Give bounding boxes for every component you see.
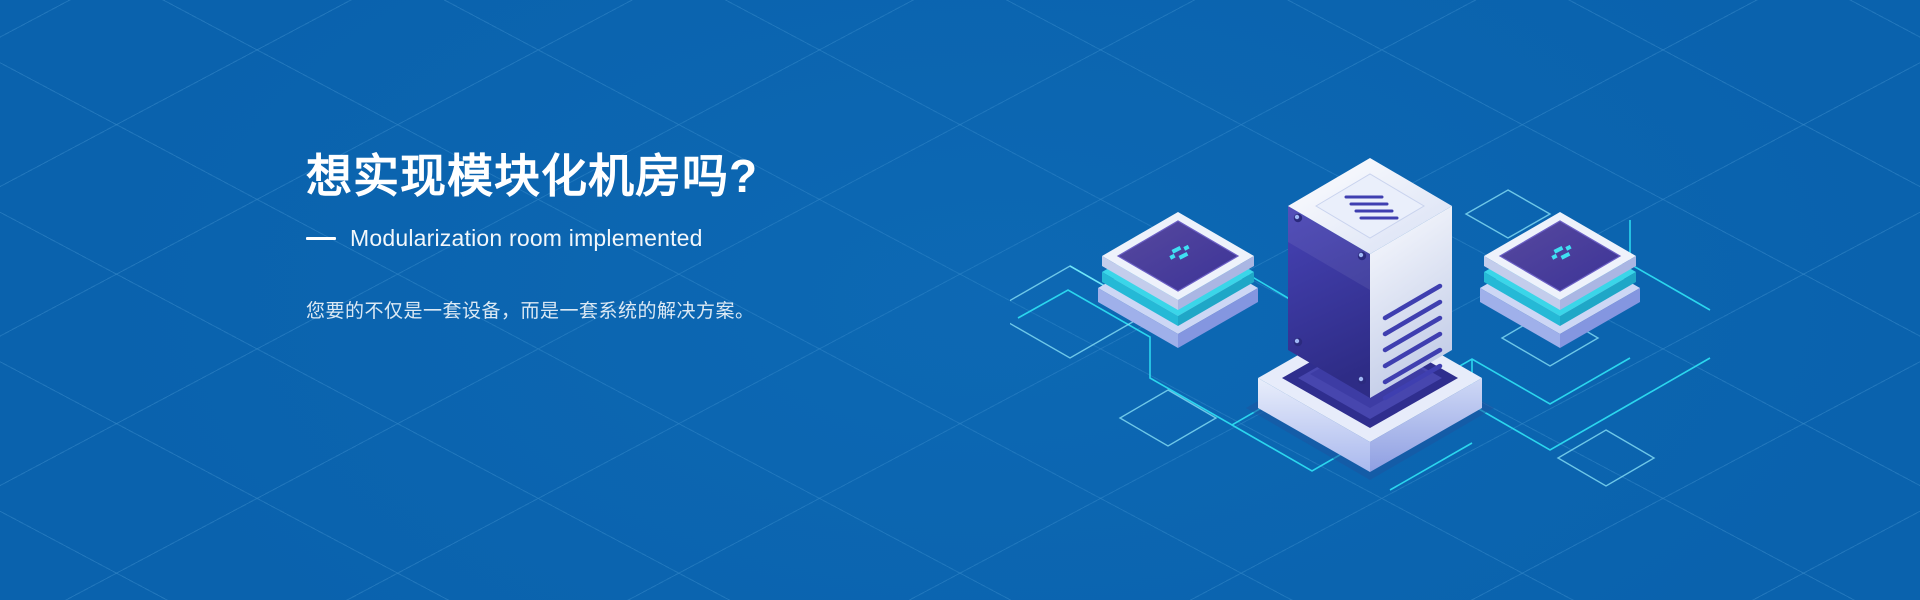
body-text: 您要的不仅是一套设备，而是一套系统的解决方案。 bbox=[306, 296, 946, 323]
hero-copy-block: 想实现模块化机房吗? Modularization room implement… bbox=[306, 150, 946, 323]
chip-module-right bbox=[1480, 212, 1640, 348]
rack-body bbox=[1288, 158, 1452, 398]
subheadline-row: Modularization room implemented bbox=[306, 225, 946, 252]
subheadline: Modularization room implemented bbox=[350, 225, 703, 252]
headline: 想实现模块化机房吗? bbox=[306, 150, 946, 203]
dash-accent-icon bbox=[306, 237, 336, 240]
illustration-isometric-server-room bbox=[1010, 60, 1730, 540]
server-rack-tower bbox=[1258, 158, 1482, 472]
hero-banner: 想实现模块化机房吗? Modularization room implement… bbox=[0, 0, 1920, 600]
